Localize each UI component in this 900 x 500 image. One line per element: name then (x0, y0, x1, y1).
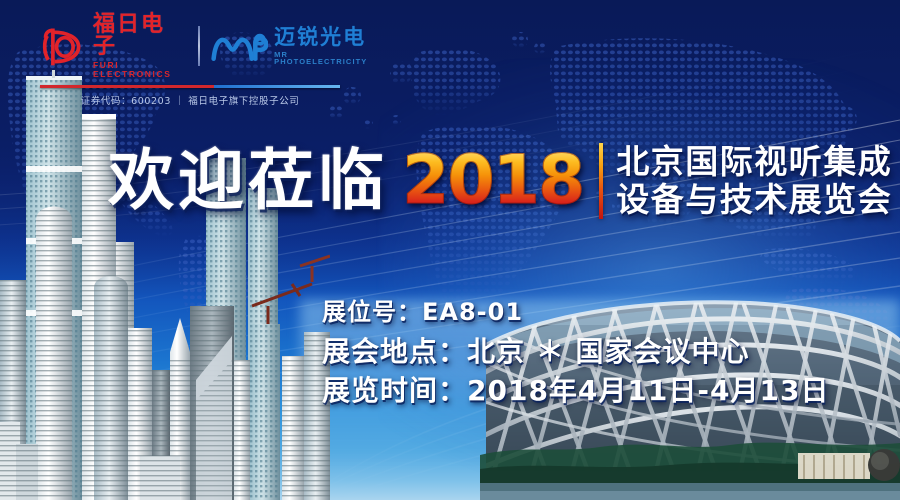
header-logo-bar: 福日电子 FURI ELECTRONICS 迈锐光电 MR PHOTOELECT… (40, 14, 370, 107)
mr-en-name: MR PHOTOELECTRICITY (274, 51, 370, 66)
headline-divider-bar (599, 143, 603, 219)
event-info-block: 展位号：EA8-01 展会地点：北京 ＊ 国家会议中心 展览时间：2018年4月… (322, 297, 829, 410)
furi-logo: 福日电子 FURI ELECTRONICS (40, 14, 188, 78)
exhibition-banner: 福日电子 FURI ELECTRONICS 迈锐光电 MR PHOTOELECT… (0, 0, 900, 500)
city-skyline-illustration (0, 70, 330, 500)
furi-en-name: FURI ELECTRONICS (93, 61, 188, 78)
header-divider-rule (40, 85, 340, 88)
logo-separator (198, 26, 200, 66)
date-text: 展览时间：2018年4月11日-4月13日 (322, 372, 829, 410)
mr-monogram-icon (210, 27, 268, 65)
year-text: 2018 (402, 147, 583, 215)
booth-number: 展位号：EA8-01 (322, 297, 829, 328)
mr-cn-name: 迈锐光电 (274, 27, 370, 48)
venue-text: 展会地点：北京 ＊ 国家会议中心 (322, 333, 829, 371)
headline-block: 欢迎莅临 2018 北京国际视听集成 设备与技术展览会 (108, 143, 892, 220)
event-name: 北京国际视听集成 设备与技术展览会 (616, 143, 892, 220)
stock-code-line: 证券代码：600203 ｜ 福日电子旗下控股子公司 (40, 93, 340, 107)
welcome-text: 欢迎莅临 (108, 148, 388, 214)
event-name-line1: 北京国际视听集成 (616, 143, 892, 181)
furi-cn-name: 福日电子 (93, 14, 188, 58)
furi-monogram-icon (40, 23, 86, 69)
event-name-line2: 设备与技术展览会 (616, 181, 892, 219)
mr-logo: 迈锐光电 MR PHOTOELECTRICITY (210, 27, 370, 66)
